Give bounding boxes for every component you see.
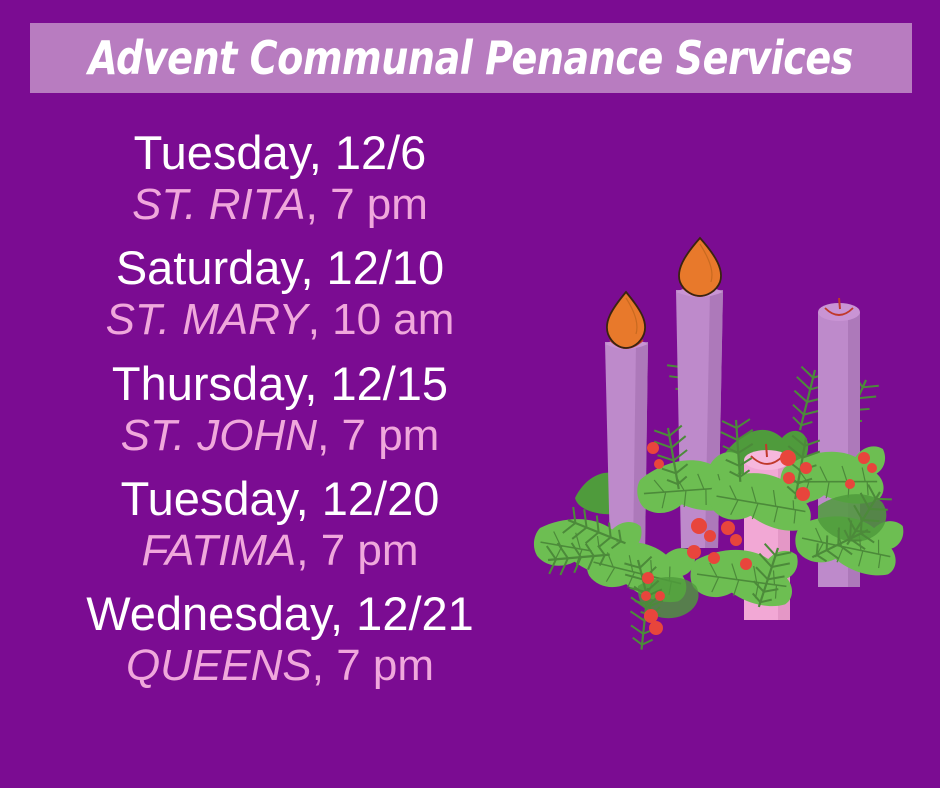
advent-penance-poster: Advent Communal Penance Services Tuesday…: [0, 0, 940, 788]
advent-wreath-illustration: [520, 230, 920, 650]
schedule-list: Tuesday, 12/6 ST. RITA, 7 pm Saturday, 1…: [20, 126, 540, 703]
entry-time: , 7 pm: [296, 526, 418, 575]
title-banner: Advent Communal Penance Services: [30, 23, 912, 93]
flame-icon: [679, 238, 721, 296]
entry-time: , 7 pm: [317, 411, 439, 460]
candle-left-purple: [605, 292, 648, 552]
entry-date: Tuesday, 12/6: [20, 126, 540, 180]
page-title: Advent Communal Penance Services: [89, 35, 854, 81]
entry-date: Tuesday, 12/20: [20, 472, 540, 526]
entry-place: QUEENS, 7 pm: [20, 641, 540, 690]
entry-church: ST. JOHN: [121, 411, 317, 460]
entry-date: Saturday, 12/10: [20, 241, 540, 295]
entry-time: , 7 pm: [306, 180, 428, 229]
schedule-entry: Tuesday, 12/6 ST. RITA, 7 pm: [20, 126, 540, 229]
entry-church: FATIMA: [141, 526, 296, 575]
entry-church: ST. RITA: [132, 180, 306, 229]
entry-date: Wednesday, 12/21: [20, 587, 540, 641]
schedule-entry: Tuesday, 12/20 FATIMA, 7 pm: [20, 472, 540, 575]
schedule-entry: Wednesday, 12/21 QUEENS, 7 pm: [20, 587, 540, 690]
flame-icon: [607, 292, 645, 348]
entry-place: ST. JOHN, 7 pm: [20, 411, 540, 460]
candle-wick: [839, 298, 840, 309]
entry-church: QUEENS: [126, 641, 312, 690]
schedule-entry: Thursday, 12/15 ST. JOHN, 7 pm: [20, 357, 540, 460]
entry-church: ST. MARY: [106, 295, 308, 344]
schedule-entry: Saturday, 12/10 ST. MARY, 10 am: [20, 241, 540, 344]
entry-place: ST. MARY, 10 am: [20, 295, 540, 344]
entry-place: FATIMA, 7 pm: [20, 526, 540, 575]
entry-time: , 7 pm: [312, 641, 434, 690]
entry-place: ST. RITA, 7 pm: [20, 180, 540, 229]
candle-wick: [766, 444, 767, 457]
entry-time: , 10 am: [308, 295, 455, 344]
entry-date: Thursday, 12/15: [20, 357, 540, 411]
